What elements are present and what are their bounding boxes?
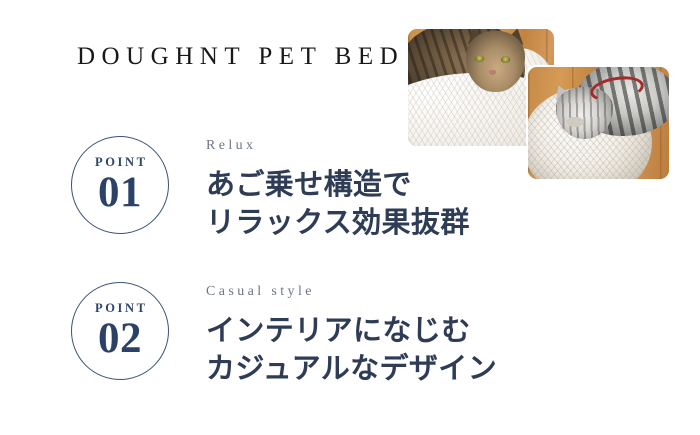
point-eyebrow-02: Casual style: [206, 285, 497, 299]
point-body-02: Casual style インテリアになじむ カジュアルなデザイン: [206, 282, 497, 388]
cat-eye-left: [475, 55, 484, 62]
point-badge-number: 01: [98, 171, 142, 214]
point-headline-02-line-1: インテリアになじむ: [206, 311, 497, 349]
point-badge-label: POINT: [92, 156, 147, 169]
cat-nose: [489, 70, 496, 75]
point-headline-01: あご乗せ構造で リラックス効果抜群: [206, 165, 470, 242]
point-headline-01-line-1: あご乗せ構造で: [206, 165, 470, 203]
point-badge-01: POINT 01: [71, 136, 169, 234]
photo-silver-tabby-sleeping-in-bed: [528, 67, 669, 179]
product-feature-banner: DOUGHNT PET BED: [0, 0, 700, 435]
point-badge-number: 02: [98, 317, 142, 360]
point-badge-label: POINT: [92, 302, 147, 315]
point-body-01: Relux あご乗せ構造で リラックス効果抜群: [206, 136, 470, 242]
point-headline-02-line-2: カジュアルなデザイン: [206, 349, 497, 387]
photo-2-content: [528, 67, 669, 179]
point-headline-02: インテリアになじむ カジュアルなデザイン: [206, 311, 497, 388]
point-badge-02: POINT 02: [71, 282, 169, 380]
page-title: DOUGHNT PET BED: [77, 44, 404, 69]
point-headline-01-line-2: リラックス効果抜群: [206, 203, 470, 241]
